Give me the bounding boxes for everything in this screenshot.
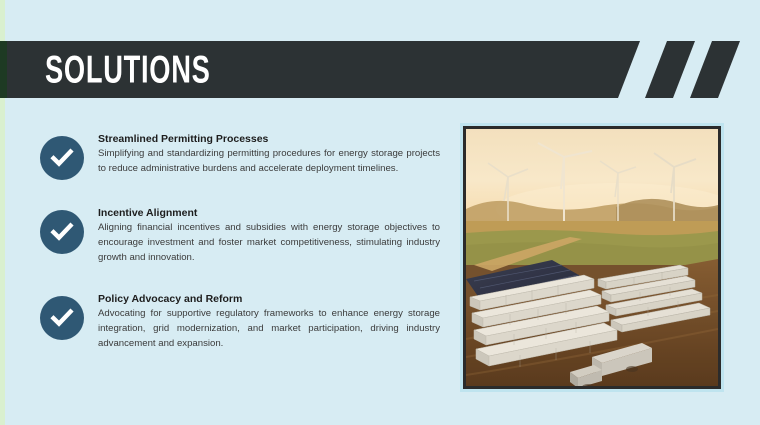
page-title: SOLUTIONS: [45, 50, 211, 89]
slide-canvas: SOLUTIONS Streamlined Permitting Process…: [0, 0, 760, 425]
header-diagonal-stripe-2: [690, 41, 740, 98]
solutions-list: Streamlined Permitting Processes Simplif…: [40, 133, 440, 351]
list-item-body: Simplifying and standardizing permitting…: [98, 147, 440, 177]
header-green-tab: [0, 41, 7, 98]
list-item-heading: Policy Advocacy and Reform: [98, 293, 440, 306]
list-item-text: Policy Advocacy and Reform Advocating fo…: [84, 293, 440, 352]
list-item: Policy Advocacy and Reform Advocating fo…: [40, 293, 440, 352]
check-circle-icon: [40, 296, 84, 340]
check-circle-icon: [40, 210, 84, 254]
header-band: SOLUTIONS: [0, 41, 760, 98]
header-diagonal-stripe-1: [645, 41, 695, 98]
check-circle-icon: [40, 136, 84, 180]
list-item-heading: Streamlined Permitting Processes: [98, 133, 440, 146]
energy-storage-photo: [463, 126, 721, 389]
list-item-text: Incentive Alignment Aligning financial i…: [84, 207, 440, 266]
list-item-heading: Incentive Alignment: [98, 207, 440, 220]
list-item: Streamlined Permitting Processes Simplif…: [40, 133, 440, 180]
photo-illustration: [466, 129, 718, 386]
list-item-body: Aligning financial incentives and subsid…: [98, 221, 440, 266]
list-item-text: Streamlined Permitting Processes Simplif…: [84, 133, 440, 177]
list-item-body: Advocating for supportive regulatory fra…: [98, 307, 440, 352]
list-item: Incentive Alignment Aligning financial i…: [40, 207, 440, 266]
